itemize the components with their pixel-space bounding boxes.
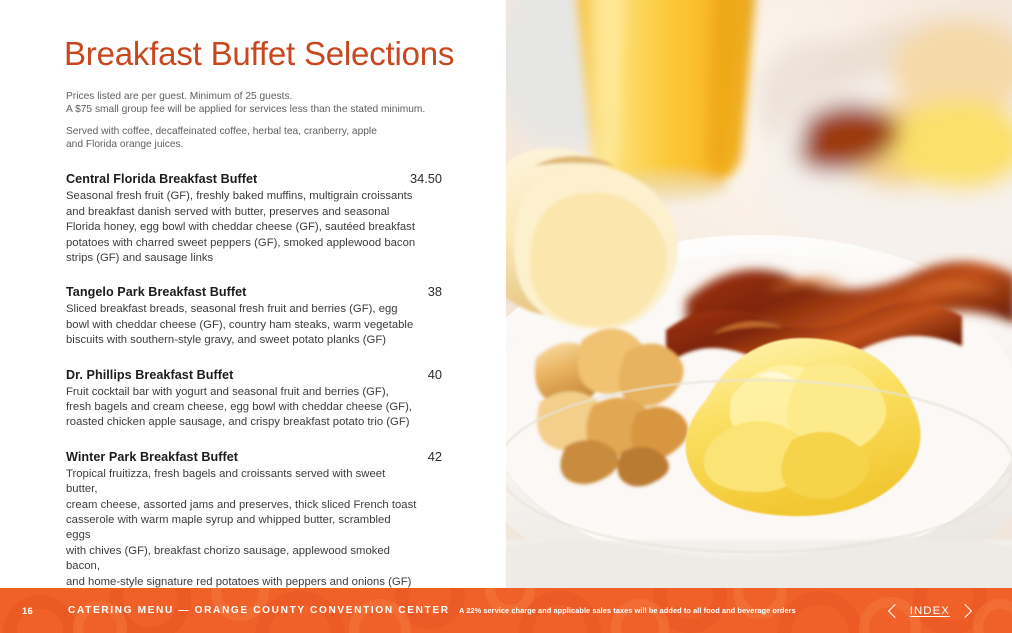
description-line: fresh bagels and cream cheese, egg bowl … (66, 400, 418, 415)
menu-page: Breakfast Buffet Selections Prices liste… (0, 0, 1012, 633)
menu-item: Central Florida Breakfast Buffet 34.50 S… (66, 171, 442, 266)
description-line: cream cheese, assorted jams and preserve… (66, 498, 418, 513)
description-line: Florida honey, egg bowl with cheddar che… (66, 220, 418, 235)
menu-item-price: 40 (418, 367, 442, 383)
beverage-note-block: Served with coffee, decaffeinated coffee… (66, 126, 442, 151)
index-link[interactable]: INDEX (910, 605, 950, 617)
breakfast-photo (506, 0, 1012, 588)
description-line: strips (GF) and sausage links (66, 251, 418, 266)
menu-item-name: Winter Park Breakfast Buffet (66, 449, 238, 465)
menu-item-name: Central Florida Breakfast Buffet (66, 171, 257, 187)
menu-item-description: Fruit cocktail bar with yogurt and seaso… (66, 385, 418, 431)
description-line: bowl with cheddar cheese (GF), country h… (66, 318, 418, 333)
menu-item-header: Dr. Phillips Breakfast Buffet 40 (66, 367, 442, 383)
menu-item-price: 38 (418, 284, 442, 300)
description-line: biscuits with southern-style gravy, and … (66, 333, 418, 348)
footer-legal-disclaimer: A 22% service charge and applicable sale… (459, 606, 796, 615)
footer-content: 16 CATERING MENU — ORANGE COUNTY CONVENT… (0, 588, 1012, 633)
description-line: Seasonal fresh fruit (GF), freshly baked… (66, 189, 418, 204)
menu-item-description: Seasonal fresh fruit (GF), freshly baked… (66, 189, 418, 266)
menu-item-description: Sliced breakfast breads, seasonal fresh … (66, 302, 418, 348)
description-line: potatoes with charred sweet peppers (GF)… (66, 236, 418, 251)
menu-item-header: Winter Park Breakfast Buffet 42 (66, 449, 442, 465)
description-line: Tropical fruitizza, fresh bagels and cro… (66, 467, 418, 498)
footer-brand-label: CATERING MENU — ORANGE COUNTY CONVENTION… (68, 605, 450, 616)
menu-item-name: Tangelo Park Breakfast Buffet (66, 284, 246, 300)
menu-item-description: Tropical fruitizza, fresh bagels and cro… (66, 467, 418, 590)
pricing-note-block: Prices listed are per guest. Minimum of … (66, 91, 442, 116)
menu-item-price: 34.50 (400, 171, 442, 187)
footer-navigation: INDEX (890, 605, 970, 617)
beverage-note-line-2: and Florida orange juices. (66, 139, 442, 152)
menu-item-header: Tangelo Park Breakfast Buffet 38 (66, 284, 442, 300)
page-footer: 16 CATERING MENU — ORANGE COUNTY CONVENT… (0, 588, 1012, 633)
content-column: Breakfast Buffet Selections Prices liste… (0, 0, 506, 588)
page-number: 16 (22, 605, 33, 616)
description-line: and breakfast danish served with butter,… (66, 205, 418, 220)
pricing-note-line-1: Prices listed are per guest. Minimum of … (66, 91, 442, 104)
page-title: Breakfast Buffet Selections (64, 34, 442, 74)
menu-item: Winter Park Breakfast Buffet 42 Tropical… (66, 449, 442, 590)
menu-item-name: Dr. Phillips Breakfast Buffet (66, 367, 233, 383)
menu-item: Tangelo Park Breakfast Buffet 38 Sliced … (66, 284, 442, 348)
menu-item-header: Central Florida Breakfast Buffet 34.50 (66, 171, 442, 187)
description-line: casserole with warm maple syrup and whip… (66, 513, 418, 544)
menu-item-list: Central Florida Breakfast Buffet 34.50 S… (66, 171, 442, 590)
menu-item: Dr. Phillips Breakfast Buffet 40 Fruit c… (66, 367, 442, 431)
menu-item-price: 42 (418, 449, 442, 465)
beverage-note-line-1: Served with coffee, decaffeinated coffee… (66, 126, 442, 139)
description-line: Fruit cocktail bar with yogurt and seaso… (66, 385, 418, 400)
chevron-right-icon[interactable] (958, 603, 972, 617)
pricing-note-line-2: A $75 small group fee will be applied fo… (66, 104, 442, 117)
description-line: Sliced breakfast breads, seasonal fresh … (66, 302, 418, 317)
chevron-left-icon[interactable] (888, 603, 902, 617)
description-line: roasted chicken apple sausage, and crisp… (66, 415, 418, 430)
description-line: with chives (GF), breakfast chorizo saus… (66, 544, 418, 575)
